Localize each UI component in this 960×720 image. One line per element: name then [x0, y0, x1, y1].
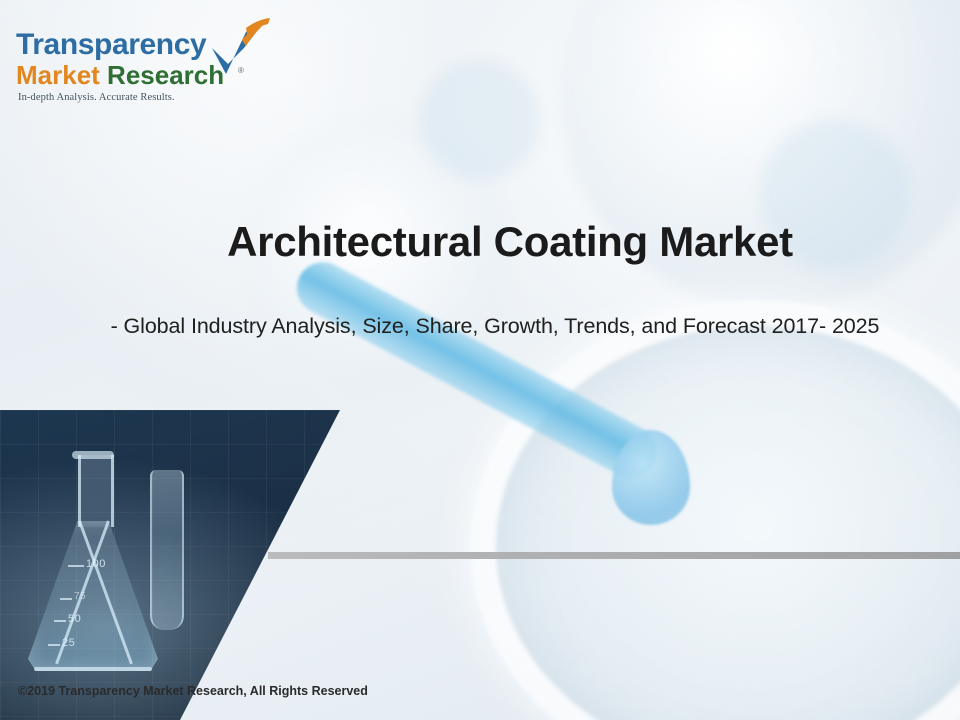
logo-text-transparency: Transparency [16, 28, 206, 62]
flask-neck [78, 455, 114, 527]
flask-graduation-tick [48, 644, 60, 646]
logo-text-market-research: Market Research [16, 60, 224, 90]
flask-graduation-label-100: 100 [86, 558, 106, 570]
page-title: Architectural Coating Market [60, 218, 960, 266]
flask-graduation-tick [60, 598, 72, 600]
bokeh-spot [420, 60, 540, 180]
registered-trademark-mark: ® [238, 66, 244, 75]
company-logo: Transparency Market Research In-depth An… [10, 22, 260, 122]
flask-graduation-label-25: 25 [62, 637, 75, 649]
divider-bar [268, 552, 960, 559]
flask-graduation-label-75: 75 [74, 591, 86, 602]
flask-base [34, 667, 152, 671]
logo-tagline: In-depth Analysis. Accurate Results. [18, 92, 175, 103]
logo-text-market: Market [16, 60, 107, 90]
flask-body [28, 521, 158, 671]
erlenmeyer-flask-icon: 100 75 50 25 [28, 455, 158, 675]
flask-graduation-tick [54, 620, 66, 622]
flask-graduation-tick [68, 565, 84, 567]
page-subtitle: - Global Industry Analysis, Size, Share,… [30, 314, 960, 339]
flask-graduation-label-50: 50 [68, 613, 81, 625]
presentation-slide: 100 75 50 25 Transparency Market Researc… [0, 0, 960, 720]
copyright-footer: ©2019 Transparency Market Research, All … [18, 684, 368, 698]
